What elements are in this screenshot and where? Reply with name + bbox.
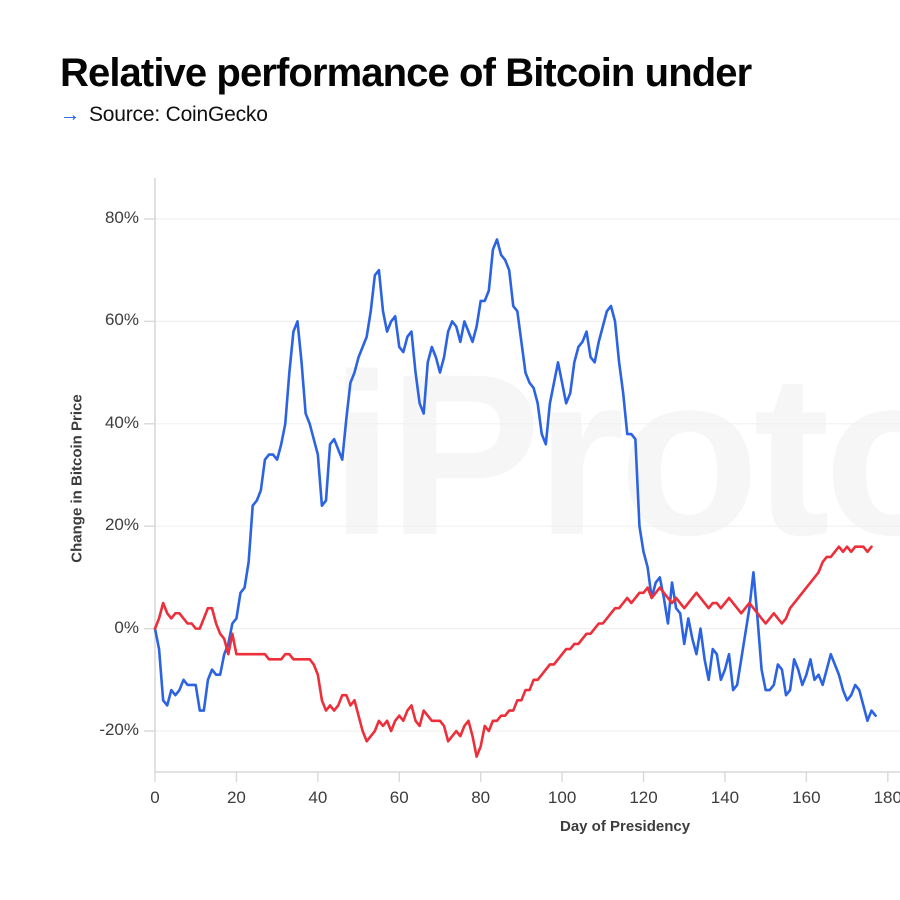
y-tick-label: 80% (40, 208, 139, 228)
x-tick-label: 60 (359, 788, 439, 808)
y-tick-label: 20% (40, 515, 139, 535)
y-axis-title: Change in Bitcoin Price (69, 369, 86, 589)
y-tick-label: -20% (40, 720, 139, 740)
x-tick-marks (155, 772, 888, 782)
chart-page: iProto Relative performance of Bitcoin u… (0, 0, 900, 900)
line-chart-svg (0, 0, 900, 900)
x-axis-title: Day of Presidency (560, 818, 690, 835)
series-layer (155, 239, 876, 756)
x-tick-label: 140 (685, 788, 765, 808)
y-tick-label: 0% (40, 618, 139, 638)
y-tick-label: 60% (40, 310, 139, 330)
series-line-blue-series (155, 239, 876, 720)
series-line-red-series (155, 547, 872, 757)
y-tick-label: 40% (40, 413, 139, 433)
axis-lines (155, 178, 900, 772)
x-tick-label: 100 (522, 788, 602, 808)
x-tick-label: 80 (441, 788, 521, 808)
x-tick-label: 120 (604, 788, 684, 808)
x-tick-label: 40 (278, 788, 358, 808)
x-tick-label: 20 (196, 788, 276, 808)
x-tick-label: 180 (848, 788, 900, 808)
x-tick-label: 160 (766, 788, 846, 808)
x-tick-label: 0 (115, 788, 195, 808)
chart-container: -20%0%20%40%60%80% 020406080100120140160… (0, 0, 900, 900)
